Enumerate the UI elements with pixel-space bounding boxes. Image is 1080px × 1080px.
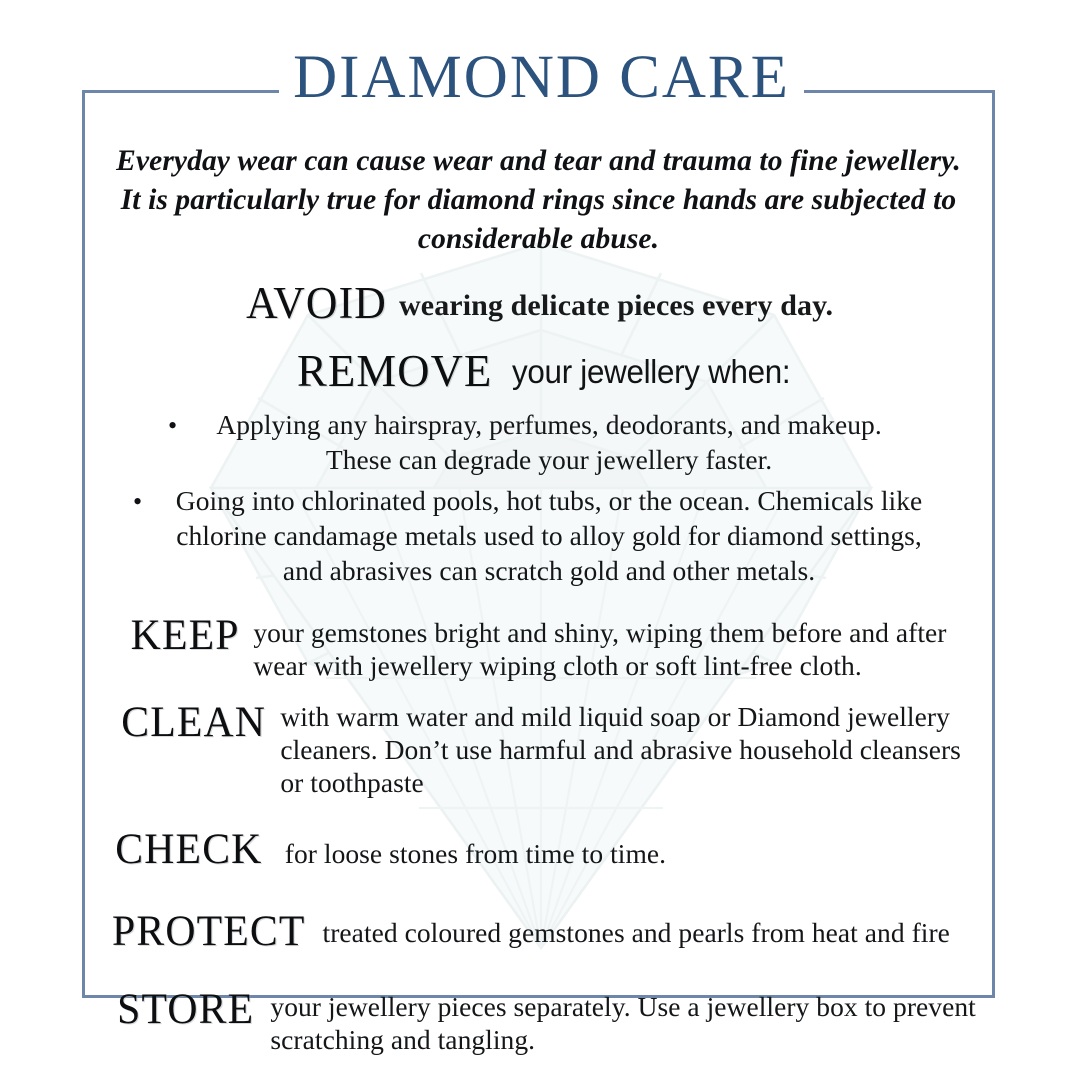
tip-keyword-cell: CHECK	[107, 825, 265, 873]
list-item-text: Applying any hairspray, perfumes, deodor…	[189, 407, 909, 477]
protect-keyword: PROTECT	[112, 909, 306, 955]
tip-row-protect: PROTECT treated coloured gemstones and p…	[85, 873, 992, 955]
check-keyword: CHECK	[115, 827, 262, 873]
keep-keyword: KEEP	[131, 613, 240, 659]
protect-text: treated coloured gemstones and pearls fr…	[309, 907, 980, 949]
tip-keyword-cell: STORE	[107, 985, 256, 1033]
card-content: Everyday wear can cause wear and tear an…	[85, 93, 992, 1056]
tip-row-check: CHECK for loose stones from time to time…	[85, 799, 992, 873]
tip-row-store: STORE your jewellery pieces separately. …	[85, 955, 992, 1056]
tip-keyword-cell: KEEP	[107, 611, 241, 659]
bullet-list: • Applying any hairspray, perfumes, deod…	[85, 397, 992, 588]
avoid-text: wearing delicate pieces every day.	[399, 289, 833, 322]
keep-text: your gemstones bright and shiny, wiping …	[241, 611, 980, 682]
store-keyword: STORE	[117, 987, 254, 1033]
bullet-icon: •	[168, 407, 177, 443]
tip-keyword-cell: CLEAN	[107, 698, 268, 746]
remove-keyword: REMOVE	[297, 345, 492, 397]
clean-keyword: CLEAN	[121, 700, 266, 746]
avoid-keyword: AVOID	[246, 278, 387, 328]
check-text: for loose stones from time to time.	[265, 825, 980, 870]
avoid-line: AVOIDwearing delicate pieces every day.	[85, 259, 992, 328]
tip-row-keep: KEEP your gemstones bright and shiny, wi…	[85, 594, 992, 682]
store-text: your jewellery pieces separately. Use a …	[256, 985, 980, 1056]
clean-text: with warm water and mild liquid soap or …	[268, 698, 980, 799]
tip-keyword-cell: PROTECT	[107, 907, 309, 955]
tip-row-clean: CLEAN with warm water and mild liquid so…	[85, 682, 992, 799]
list-item: • Applying any hairspray, perfumes, deod…	[103, 407, 974, 477]
list-item-text: Going into chlorinated pools, hot tubs, …	[154, 483, 944, 588]
bullet-icon: •	[133, 483, 142, 519]
remove-text: your jewellery when:	[512, 353, 790, 391]
list-item: • Going into chlorinated pools, hot tubs…	[103, 483, 974, 588]
intro-paragraph: Everyday wear can cause wear and tear an…	[85, 93, 992, 259]
remove-line: REMOVEyour jewellery when:	[85, 328, 992, 397]
diamond-care-card: DIAMOND CARE Everyday wear can cause wea…	[82, 90, 995, 998]
